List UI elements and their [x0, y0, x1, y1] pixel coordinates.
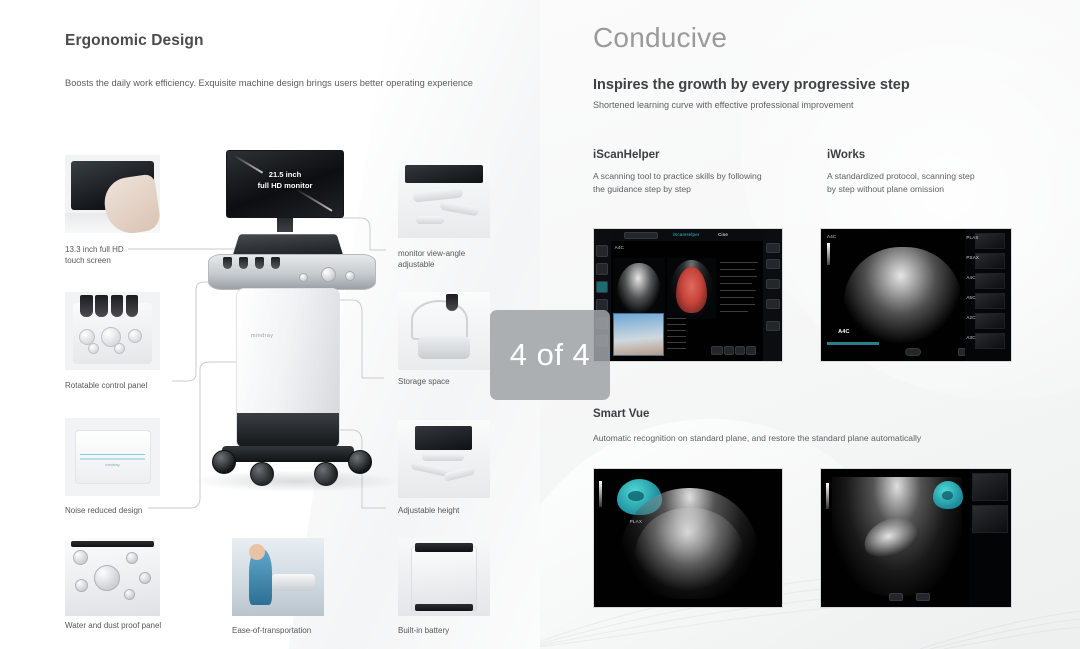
arm-segment-3	[416, 216, 444, 224]
product-brand-mark: mindray	[251, 333, 273, 339]
probe-holder-3	[255, 257, 264, 269]
slide-counter-overlay: 4 of 4	[490, 310, 610, 400]
iscanhelper-app-title: iScanHelper	[673, 232, 700, 237]
gray-scale-bar	[599, 481, 602, 507]
protocol-thumb-1[interactable]	[975, 233, 1004, 249]
product-knob-2	[345, 271, 355, 281]
battery-top	[415, 543, 474, 552]
thumbnail-waterproof-panel[interactable]	[65, 538, 160, 616]
feature-desc-iscanhelper: A scanning tool to practice skills by fo…	[593, 170, 808, 196]
right-panel-subheading: Shortened learning curve with effective …	[593, 100, 853, 110]
model-chamber	[628, 491, 643, 501]
thumbnail-storage-space[interactable]	[398, 292, 490, 370]
storage-tray	[418, 336, 470, 359]
label-battery: Built-in battery	[398, 625, 518, 636]
probe-holder-4	[271, 257, 280, 269]
product-shadow	[190, 470, 402, 492]
protocol-thumb-3[interactable]	[975, 273, 1004, 289]
playback-btn-4[interactable]	[746, 346, 756, 355]
heart-ultrasound-image	[617, 263, 661, 314]
probe-position-photo	[613, 313, 664, 355]
label-control-panel: Rotatable control panel	[65, 380, 195, 391]
monitor-neck	[277, 218, 293, 232]
product-knob-3	[299, 273, 308, 282]
thumbnail-touch-screen[interactable]	[65, 155, 160, 233]
feature-desc-iworks: A standardized protocol, scanning step b…	[827, 170, 1042, 196]
probe-1	[80, 295, 92, 317]
knob	[75, 579, 88, 592]
label-adjustable-height: Adjustable height	[398, 505, 518, 516]
live-scan-pane	[613, 258, 666, 319]
gray-scale-bar	[827, 243, 830, 265]
scan-header-text	[826, 473, 827, 478]
protocol-thumb-6[interactable]	[975, 333, 1004, 349]
thumbnail-control-panel[interactable]	[65, 292, 160, 370]
label-noise-reduction: Noise reduced design	[65, 505, 195, 516]
label-transportation: Ease-of-transportation	[232, 625, 372, 636]
scan-header-text	[599, 473, 600, 478]
reference-thumbnail-strip[interactable]	[969, 469, 1011, 607]
right-panel: Conducive Inspires the growth by every p…	[540, 0, 1080, 649]
probe-3	[111, 295, 123, 317]
knob	[88, 343, 99, 354]
brand-mark-small: mindray	[105, 462, 119, 467]
knob	[114, 343, 125, 354]
screenshot-smartvue-left[interactable]: PLAX	[593, 468, 783, 608]
feature-title-iworks: iWorks	[827, 149, 865, 161]
store-button[interactable]	[916, 593, 930, 601]
thumbnail-adjustable-height[interactable]	[398, 420, 490, 498]
right-tool-4[interactable]	[766, 299, 780, 309]
measurement-list	[667, 316, 693, 353]
sidebar-btn-exam[interactable]	[596, 245, 608, 257]
label-monitor-arm: monitor view-angle adjustable	[398, 248, 518, 270]
knob	[73, 550, 88, 565]
sidebar-btn-probe[interactable]	[596, 263, 608, 275]
left-panel: Ergonomic Design Boosts the daily work e…	[0, 0, 540, 649]
screenshot-smartvue-right[interactable]	[820, 468, 1012, 608]
product-body: mindray	[236, 288, 340, 448]
top-strip	[71, 541, 155, 547]
probe-in-holder	[446, 294, 458, 311]
playback-btn-1[interactable]	[711, 346, 723, 355]
thumbnail-noise-reduction[interactable]: mindray	[65, 418, 160, 496]
knob-cluster	[76, 326, 148, 353]
cart-graphic	[272, 574, 314, 591]
knob	[128, 329, 142, 343]
right-panel-heading: Inspires the growth by every progressive…	[593, 77, 910, 93]
progress-bar	[827, 342, 879, 345]
right-tool-2[interactable]	[766, 259, 780, 269]
slide-counter-text: 4 of 4	[510, 337, 591, 373]
product-image-ultrasound-machine[interactable]: 21.5 inch full HD monitor mindray	[196, 150, 396, 510]
label-waterproof-panel: Water and dust proof panel	[65, 620, 225, 631]
right-tool-sidebar[interactable]	[763, 229, 782, 361]
label-touch-screen: 13.3 inch full HD touch screen	[65, 244, 175, 266]
knob	[126, 552, 138, 564]
teal-line	[80, 454, 145, 456]
gray-scale-bar	[826, 483, 829, 509]
product-control-panel	[208, 254, 376, 290]
battery-icon	[411, 546, 477, 612]
monitor-caption: 21.5 inch full HD monitor	[227, 169, 343, 192]
probe-2	[95, 295, 107, 317]
right-tool-5[interactable]	[766, 321, 780, 331]
heart-ultrasound-image	[844, 247, 962, 342]
guidance-text-column	[720, 258, 759, 316]
iworks-info-text: A4C	[827, 234, 836, 239]
freeze-button[interactable]	[905, 348, 921, 356]
screenshot-iworks[interactable]: A4C A4C PLAX PSAX A4C A5C A2C A3C	[820, 228, 1012, 362]
battery-bottom	[415, 604, 474, 611]
model-inner	[942, 491, 953, 499]
right-panel-title: Conducive	[593, 22, 727, 54]
main-knob	[94, 565, 120, 591]
product-monitor: 21.5 inch full HD monitor	[226, 150, 344, 218]
preset-label-a4c: A4C	[615, 245, 624, 250]
playback-btn-3[interactable]	[735, 346, 745, 355]
iworks-plane-label: A4C	[838, 329, 850, 335]
protocol-thumb-5[interactable]	[975, 313, 1004, 329]
thumbnail-battery[interactable]	[398, 538, 490, 616]
organ-model-icon	[933, 481, 963, 509]
storage-space-icon	[411, 300, 468, 341]
feature-title-iscanhelper: iScanHelper	[593, 149, 659, 161]
height-arm-1	[422, 453, 464, 461]
iscanhelper-tab-cine[interactable]: Cine	[718, 232, 728, 237]
screenshot-iscanhelper[interactable]: iScanHelper Cine ✕ A4C	[593, 228, 783, 362]
measure-button[interactable]	[889, 593, 903, 601]
product-knob-1	[321, 267, 336, 282]
monitor-arm-icon	[405, 165, 482, 184]
patient-field[interactable]	[624, 232, 658, 239]
feature-desc-smartvue: Automatic recognition on standard plane,…	[593, 432, 1043, 445]
product-base	[222, 446, 354, 462]
thumbnail-monitor-arm[interactable]	[398, 160, 490, 238]
probe-4	[126, 295, 138, 317]
probe-holder-2	[239, 257, 248, 269]
reference-thumb-1[interactable]	[972, 473, 1009, 501]
protocol-thumb-4[interactable]	[975, 293, 1004, 309]
product-body-base	[237, 413, 339, 447]
monitor-glare-2	[295, 188, 332, 211]
adjustable-height-icon	[415, 426, 472, 449]
sidebar-btn-mode[interactable]	[596, 281, 608, 293]
protocol-thumbnail-strip[interactable]: PLAX PSAX A4C A5C A2C A3C	[965, 229, 1011, 361]
playback-btn-2[interactable]	[724, 346, 734, 355]
right-tool-3[interactable]	[766, 279, 780, 289]
feature-title-smartvue: Smart Vue	[593, 408, 649, 420]
thumbnail-transportation[interactable]	[232, 538, 324, 616]
teal-line	[80, 458, 145, 460]
noise-reduction-icon	[75, 430, 151, 483]
right-tool-1[interactable]	[766, 243, 780, 253]
probe-holder-1	[223, 257, 232, 269]
reference-thumb-2[interactable]	[972, 505, 1009, 533]
anatomy-illustration-pane	[667, 258, 716, 319]
protocol-thumb-2[interactable]	[975, 253, 1004, 269]
slide-page: Ergonomic Design Boosts the daily work e…	[0, 0, 1080, 649]
